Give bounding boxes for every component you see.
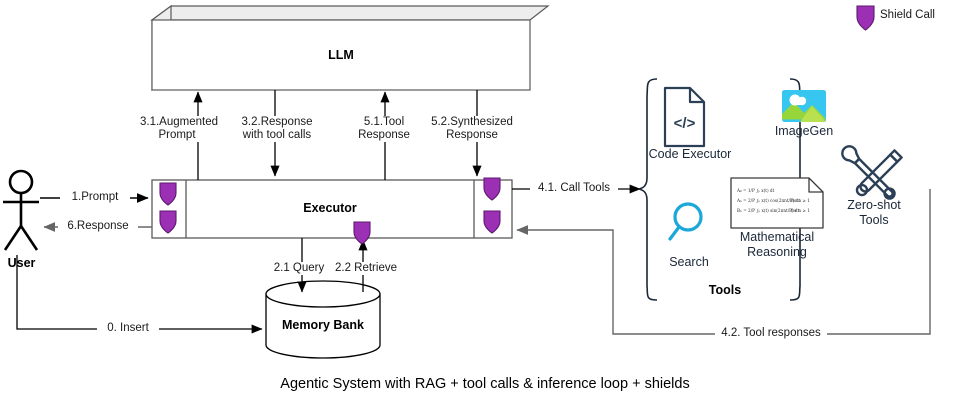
edge-label-3-1: 3.1.Augmented Prompt xyxy=(140,116,214,142)
insert-connector xyxy=(17,255,262,329)
diagram-canvas: </> A₀ = 1/P ∫ₚ x(t) dt Aₙ = 2/P ∫ₚ x(t)… xyxy=(0,0,970,411)
tool-label-search: Search xyxy=(653,255,725,270)
llm-label: LLM xyxy=(152,48,530,62)
tool-label-code-executor: Code Executor xyxy=(642,147,738,162)
edge-label-2-2-retrieve: 2.2 Retrieve xyxy=(330,262,402,275)
edge-label-5-2: 5.2.Synthesized Response xyxy=(428,116,516,142)
memory-bank-label: Memory Bank xyxy=(266,318,380,332)
edge-label-0-insert: 0. Insert xyxy=(97,322,159,335)
svg-text:for n ≥ 1: for n ≥ 1 xyxy=(791,198,810,203)
tool-label-math-reasoning: Mathematical Reasoning xyxy=(724,230,830,260)
math-reasoning-icon: A₀ = 1/P ∫ₚ x(t) dt Aₙ = 2/P ∫ₚ x(t) cos… xyxy=(731,178,823,228)
diagram-caption: Agentic System with RAG + tool calls & i… xyxy=(0,376,970,392)
tools-group-label: Tools xyxy=(690,283,760,297)
edge-label-1-prompt: 1.Prompt xyxy=(60,191,130,204)
edge-label-5-1: 5.1.Tool Response xyxy=(348,116,420,142)
edge-label-3-2: 3.2.Response with tool calls xyxy=(232,116,322,142)
user-label: User xyxy=(0,256,43,270)
svg-text:A₀ = 1/P ∫ₚ x(t) dt: A₀ = 1/P ∫ₚ x(t) dt xyxy=(736,188,775,193)
edge-label-4-2-tool-responses: 4.2. Tool responses xyxy=(715,327,827,340)
imagegen-icon xyxy=(782,90,826,122)
tool-label-zero-shot-tools: Zero-shot Tools xyxy=(838,198,910,228)
user-stick-figure xyxy=(3,171,39,250)
executor-label: Executor xyxy=(186,201,474,215)
code-executor-icon: </> xyxy=(665,88,704,146)
legend-label: Shield Call xyxy=(880,9,960,22)
svg-text:for n ≥ 1: for n ≥ 1 xyxy=(791,208,810,213)
shield-icon xyxy=(354,222,370,244)
svg-text:</>: </> xyxy=(674,115,696,132)
legend-shield-icon xyxy=(857,6,874,30)
zero-shot-tools-icon xyxy=(839,143,901,202)
edge-label-4-1-call-tools: 4.1. Call Tools xyxy=(530,182,618,195)
edge-label-6-response: 6.Response xyxy=(58,220,138,233)
edge-label-2-1-query: 2.1 Query xyxy=(268,262,330,275)
search-icon xyxy=(670,204,701,239)
tool-label-imagegen: ImageGen xyxy=(764,124,844,139)
